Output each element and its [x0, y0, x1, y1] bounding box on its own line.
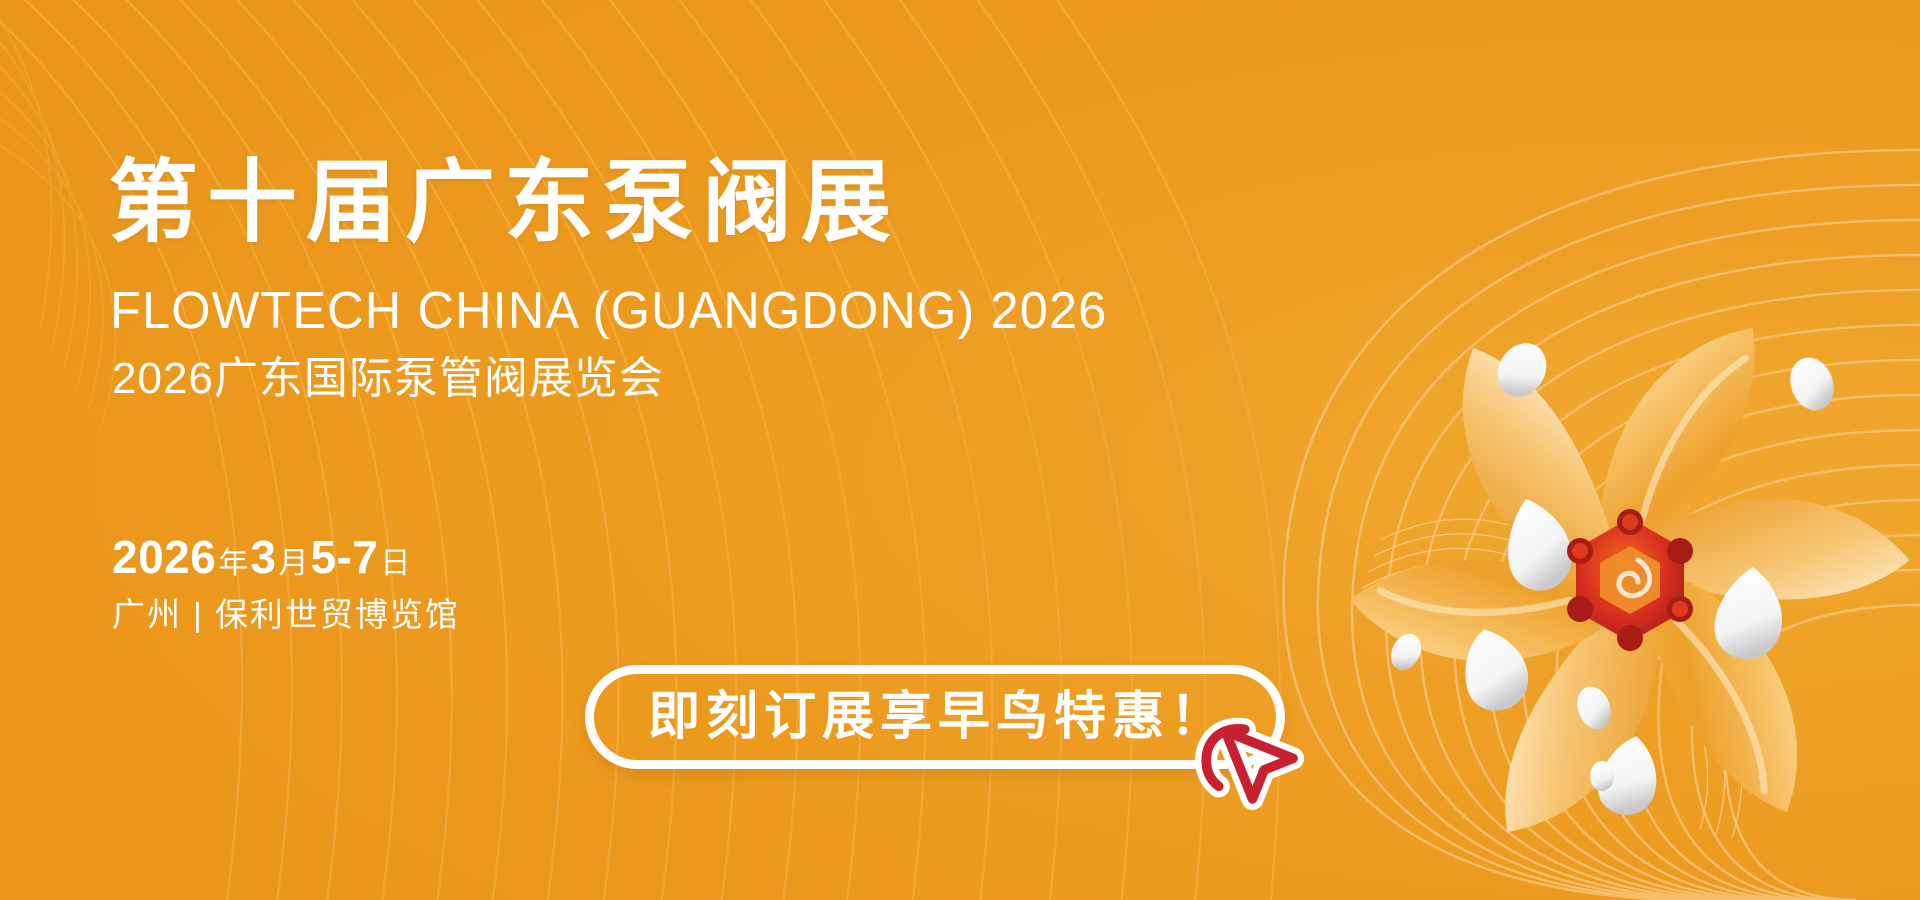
cta-area: 即刻订展享早鸟特惠！: [585, 665, 1325, 780]
title-english: FLOWTECH CHINA (GUANGDONG) 2026: [110, 285, 1107, 337]
cta-label: 即刻订展享早鸟特惠！: [642, 691, 1228, 743]
event-year: 2026: [112, 534, 216, 580]
event-year-unit: 年: [216, 549, 250, 579]
event-banner: 第十届广东泵阀展 FLOWTECH CHINA (GUANGDONG) 2026…: [0, 0, 1920, 900]
event-day-unit: 日: [378, 549, 412, 579]
title-chinese-subtitle: 2026广东国际泵管阀展览会: [112, 357, 664, 401]
event-month: 3: [250, 534, 276, 580]
event-days: 5-7: [310, 534, 378, 580]
event-venue: 广州 | 保利世贸博览馆: [112, 598, 460, 631]
early-bird-cta-button[interactable]: 即刻订展享早鸟特惠！: [585, 665, 1285, 769]
event-date: 2026 年 3 月 5-7 日: [112, 534, 412, 580]
page-title: 第十届广东泵阀展: [108, 158, 900, 248]
event-month-unit: 月: [276, 549, 310, 579]
